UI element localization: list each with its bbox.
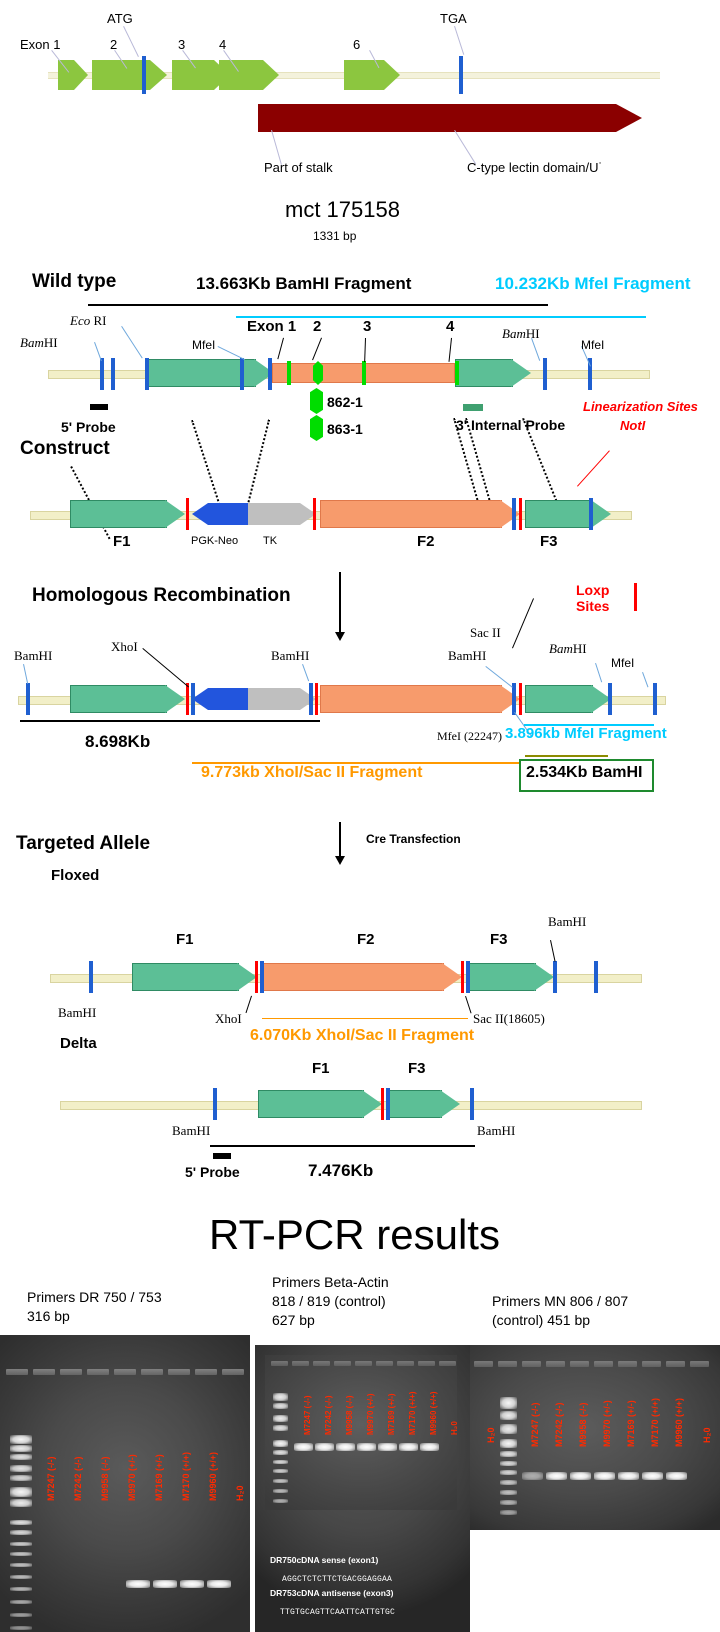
leader-bamhi-wt-right xyxy=(531,338,540,361)
loxp-site-construct-1 xyxy=(186,498,189,530)
hr-label-mfei: MfeI xyxy=(611,657,634,669)
leader-atg xyxy=(123,26,139,57)
hr-label-bamhi-left: BamHI xyxy=(14,649,52,662)
label-exon1-wt: Exon 1 xyxy=(247,319,296,334)
cre-arrow-head xyxy=(335,856,345,865)
gel-lane-label: M7247 (-/-) xyxy=(530,1402,540,1447)
construct-f3-arrow xyxy=(525,500,611,528)
exon-2-mark xyxy=(313,361,323,385)
exon-3-mark xyxy=(362,361,366,385)
exon-6-arrow xyxy=(344,60,400,90)
gel-lane-label: M9958 (-/-) xyxy=(345,1395,354,1435)
site-bamhi-construct xyxy=(512,498,516,530)
construct-f2-arrow xyxy=(320,500,520,528)
hr-site-bamhi-right-blue xyxy=(512,683,516,715)
dotted-link-4 xyxy=(453,418,480,507)
gel-lane-label: M9970 (+/-) xyxy=(127,1454,137,1501)
gel-image-right: H₂0M7247 (-/-)M7242 (-/-)M9958 (-/-)M997… xyxy=(470,1345,720,1530)
gel-lane-label: M9960 (+/+) xyxy=(674,1398,684,1447)
delta-site-mid-blue xyxy=(386,1088,390,1120)
delta-panel: Delta F1 F3 BamHI BamHI 5' Probe 7.476Kb xyxy=(0,985,720,1150)
tga-site-marker xyxy=(459,56,463,94)
label-bamhi-wt-right-italic: Bam xyxy=(502,326,526,341)
leader-mfei-wt-left xyxy=(218,346,245,360)
hr-label-9773: 9.773kb XhoI/Sac II Fragment xyxy=(201,765,422,781)
label-linearization-sites: Linearization Sites xyxy=(583,400,698,413)
site-exon1-boundary xyxy=(268,358,272,390)
leader-ecori-wt xyxy=(121,326,143,358)
hr-site-bamhi-left xyxy=(26,683,30,715)
mfei-fragment-label: 10.232Kb MfeI Fragment xyxy=(495,275,691,292)
hr-pgk-neo-arrow xyxy=(192,688,250,710)
noti-leader-line xyxy=(577,450,610,486)
bamhi-fragment-rule xyxy=(88,304,548,306)
targeted-heading: Targeted Allele xyxy=(16,834,150,853)
label-mfei-wt-left: MfeI xyxy=(192,339,215,351)
delta-label-bamhi-right: BamHI xyxy=(477,1124,515,1137)
site-bamhi-wt-2 xyxy=(111,358,115,390)
hr-label-mfei-pos: MfeI (22247) xyxy=(437,730,502,742)
site-noti-construct xyxy=(589,498,593,530)
site-bamhi-wt-right xyxy=(543,358,547,390)
hr-label-xhoi: XhoI xyxy=(111,640,138,653)
gel-lane-label: M7170 (+/+) xyxy=(650,1398,660,1447)
label-bamhi-wt: BamHI xyxy=(20,336,58,349)
gel-lane-label: M7169 (+/-) xyxy=(626,1400,636,1447)
rtpcr-caption-mid-1: Primers Beta-Actin xyxy=(272,1275,389,1289)
primer-sequence-name-0: DR750cDNA sense (exon1) xyxy=(270,1555,378,1565)
oligo-862-1-label: 862-1 xyxy=(327,395,363,409)
exon4-label: 4 xyxy=(219,38,226,51)
hr-label-bamhi-italic: BamHI xyxy=(549,642,587,655)
gel-lane-label: M9958 (-/-) xyxy=(578,1402,588,1447)
gel-lane-label: M7169 (+/-) xyxy=(154,1454,164,1501)
primer-sequence-row-1: DR753cDNA antisense (exon3) TTGTGCAGTTCA… xyxy=(270,1583,470,1619)
rtpcr-caption-left-2: 316 bp xyxy=(27,1309,70,1323)
atg-site-marker xyxy=(142,56,146,94)
gel-lane-label: M9960 (+/+) xyxy=(208,1452,218,1501)
gene-map-length: 1331 bp xyxy=(313,230,356,242)
exon-4-arrow xyxy=(219,60,279,90)
delta-probe-label: 5' Probe xyxy=(185,1165,240,1179)
delta-five-prime-probe-bar xyxy=(213,1153,231,1159)
hr-label-sacii: Sac II xyxy=(470,626,501,639)
label-exon2-wt: 2 xyxy=(313,319,321,334)
label-mfei-wt-right: MfeI xyxy=(581,339,604,351)
lectin-domain-arrow xyxy=(272,104,642,132)
delta-f1-arrow xyxy=(258,1090,382,1118)
rtpcr-caption-right-2: (control) 451 bp xyxy=(492,1313,590,1327)
label-bamhi-wt-right: BamHI xyxy=(502,327,540,340)
exon3-label: 3 xyxy=(178,38,185,51)
hr-leader-bamhi-mid xyxy=(302,664,309,681)
label-ecori-wt-italic: Eco xyxy=(70,313,90,328)
gel-lane-label: M7169 (+/-) xyxy=(387,1393,396,1435)
recombination-arrow xyxy=(339,572,341,634)
loxp-site-construct-2 xyxy=(313,498,316,530)
loxp-site-construct-3 xyxy=(519,498,522,530)
rtpcr-title: RT-PCR results xyxy=(209,1214,500,1256)
construct-f3-label: F3 xyxy=(540,534,558,549)
mfei-fragment-rule xyxy=(236,316,646,318)
floxed-f2-label: F2 xyxy=(357,932,375,947)
hr-leader-sacii xyxy=(512,598,534,648)
floxed-leader-bamhi-right xyxy=(550,940,556,962)
construct-f2-label: F2 xyxy=(417,534,435,549)
gel-lane-label: H₂0 xyxy=(486,1427,496,1443)
recombination-arrow-head xyxy=(335,632,345,641)
delta-label-bamhi-left: BamHI xyxy=(172,1124,210,1137)
hr-f1-arrow xyxy=(70,685,185,713)
gel-lane-label: H₂0 xyxy=(702,1427,712,1443)
gene-map-panel: Exon 1 2 ATG 3 4 6 TGA Part of stalk C-t… xyxy=(0,0,720,258)
hr-rule-2534 xyxy=(525,755,608,757)
construct-pgk-neo-arrow xyxy=(192,503,250,525)
hr-loxp-3 xyxy=(519,683,522,715)
hr-site-bamhi-mid-blue xyxy=(309,683,313,715)
delta-heading: Delta xyxy=(60,1036,97,1051)
hr-f3-arrow xyxy=(525,685,611,713)
stalk-label: Part of stalk xyxy=(264,161,333,174)
exon-1-mark xyxy=(287,361,291,385)
oligo-862-1-marker xyxy=(310,388,323,414)
targeted-allele-panel: Targeted Allele Cre Transfection Floxed … xyxy=(0,790,720,990)
exon1-label: Exon 1 xyxy=(20,38,60,51)
primer-sequence-name-1: DR753cDNA antisense (exon3) xyxy=(270,1588,393,1598)
construct-f1-arrow xyxy=(70,500,185,528)
delta-f3-arrow xyxy=(388,1090,460,1118)
leader-exon1-wt xyxy=(277,338,284,360)
delta-f3-label: F3 xyxy=(408,1061,426,1076)
delta-site-bamhi-left xyxy=(213,1088,217,1120)
label-bamhi-wt-italic: Bam xyxy=(20,335,44,350)
rtpcr-caption-mid-2: 818 / 819 (control) xyxy=(272,1294,386,1308)
cre-transfection-label: Cre Transfection xyxy=(366,833,461,845)
delta-loxp xyxy=(381,1088,384,1120)
gel-lane-label: M7170 (+/+) xyxy=(408,1391,417,1435)
gel-lane-label: M7247 (-/-) xyxy=(46,1456,56,1501)
hr-leader-mfei-far xyxy=(642,672,648,687)
rtpcr-caption-mid-3: 627 bp xyxy=(272,1313,315,1327)
floxed-f3-label: F3 xyxy=(490,932,508,947)
construct-tk-arrow xyxy=(248,503,316,525)
label-bamhi-wt-roman: HI xyxy=(44,335,58,350)
floxed-f1-label: F1 xyxy=(176,932,194,947)
dotted-link-2 xyxy=(191,420,224,516)
delta-fragment-rule xyxy=(210,1145,475,1147)
label-exon4-wt: 4 xyxy=(446,319,454,334)
hr-f2-arrow xyxy=(320,685,520,713)
delta-fragment-label: 7.476Kb xyxy=(308,1162,373,1179)
leader-exon3-wt xyxy=(364,338,366,362)
construct-pgk-neo-label: PGK-Neo xyxy=(191,536,238,547)
hr-label-3896: 3.896kb MfeI Fragment xyxy=(505,726,667,741)
construct-heading: Construct xyxy=(20,439,110,458)
hr-leader-bamhi-far xyxy=(595,663,602,682)
gel-lane-label: H₂0 xyxy=(450,1421,459,1435)
lectin-domain-label: C-type lectin domain/U˙ xyxy=(467,161,603,174)
loxp-legend-line2: Sites xyxy=(576,599,609,613)
five-prime-probe-bar xyxy=(90,404,108,410)
gel-lane-label: M9970 (+/-) xyxy=(366,1393,375,1435)
gel-lane-label: M7170 (+/+) xyxy=(181,1452,191,1501)
homologous-heading: Homologous Recombination xyxy=(32,586,291,605)
hr-loxp-1 xyxy=(186,683,189,715)
wild-type-homology-arm-right xyxy=(455,359,531,387)
label-ecori-wt: Eco RI xyxy=(70,314,106,327)
primer-sequence-row-0: DR750cDNA sense (exon1) AGGCTCTCTTCTGACG… xyxy=(270,1550,470,1586)
primer-sequence-value-1: TTGTGCAGTTCAATTCATTGTGC xyxy=(280,1608,395,1617)
hr-label-bamhi-right: BamHI xyxy=(448,649,486,662)
hr-label-8698: 8.698Kb xyxy=(85,733,150,750)
atg-label: ATG xyxy=(107,12,133,25)
gel-lane-label: M7242 (-/-) xyxy=(324,1395,333,1435)
site-ecori-wt xyxy=(145,358,149,390)
gel-lane-label: M7242 (-/-) xyxy=(554,1402,564,1447)
floxed-label-bamhi-right: BamHI xyxy=(548,915,586,928)
gel-lane-label: M9970 (+/-) xyxy=(602,1400,612,1447)
rtpcr-caption-left-1: Primers DR 750 / 753 xyxy=(27,1290,162,1304)
leader-bamhi-wt xyxy=(94,342,102,361)
hr-label-bamhi-roman-part: HI xyxy=(573,641,587,656)
hr-leader-xhoi xyxy=(142,648,189,687)
cre-arrow-shaft xyxy=(339,822,341,860)
rtpcr-panel: RT-PCR results Primers DR 750 / 753 316 … xyxy=(0,1190,720,1632)
hr-label-bamhi-italic-part: Bam xyxy=(549,641,573,656)
hr-loxp-2 xyxy=(315,683,318,715)
three-internal-probe-bar xyxy=(463,404,483,411)
gel-lane-label: M7242 (-/-) xyxy=(73,1456,83,1501)
wild-type-homology-arm-left xyxy=(146,359,274,387)
label-exon3-wt: 3 xyxy=(363,319,371,334)
label-bamhi-wt-right-roman: HI xyxy=(526,326,540,341)
gel-lane-label: M9960 (+/+) xyxy=(429,1391,438,1435)
tga-label: TGA xyxy=(440,12,467,25)
construct-panel: Construct F1 PGK-Neo TK F2 F3 xyxy=(0,430,720,550)
exon-4-mark xyxy=(455,361,459,385)
site-bamhi-wt-1 xyxy=(100,358,104,390)
wild-type-heading: Wild type xyxy=(32,272,116,291)
gel-lane-label: M7247 (-/-) xyxy=(303,1395,312,1435)
bamhi-fragment-label: 13.663Kb BamHI Fragment xyxy=(196,275,411,292)
label-ecori-wt-roman: RI xyxy=(90,313,106,328)
site-mfei-wt-left xyxy=(240,358,244,390)
gene-map-title: mct 175158 xyxy=(285,199,400,221)
exon-2-arrow xyxy=(92,60,167,90)
delta-f1-label: F1 xyxy=(312,1061,330,1076)
hr-rule-8698 xyxy=(20,720,320,722)
homologous-recombination-panel: Homologous Recombination Loxp Sites xyxy=(0,550,720,790)
hr-site-bamhi-far xyxy=(608,683,612,715)
loxp-legend-swatch xyxy=(634,583,637,611)
hr-site-xhoi-blue xyxy=(191,683,195,715)
leader-tga xyxy=(454,26,464,55)
rtpcr-caption-right-1: Primers MN 806 / 807 xyxy=(492,1294,628,1308)
dotted-link-5 xyxy=(465,418,492,507)
floxed-heading: Floxed xyxy=(51,868,99,883)
exon2-label: 2 xyxy=(110,38,117,51)
construct-tk-label: TK xyxy=(263,536,277,547)
hr-tk-arrow xyxy=(248,688,316,710)
hr-label-bamhi-mid: BamHI xyxy=(271,649,309,662)
hr-label-2534: 2.534Kb BamHI xyxy=(526,765,643,781)
gel-image-left: M7247 (-/-)M7242 (-/-)M9958 (-/-)M9970 (… xyxy=(0,1335,250,1632)
gel-image-middle: M7247 (-/-)M7242 (-/-)M9958 (-/-)M9970 (… xyxy=(255,1345,470,1632)
wild-type-panel: Wild type 13.663Kb BamHI Fragment 10.232… xyxy=(0,258,720,438)
hr-site-mfei-far xyxy=(653,683,657,715)
gel-lane-label: M9958 (-/-) xyxy=(100,1456,110,1501)
leader-exon2-wt xyxy=(312,338,322,361)
dotted-link-6 xyxy=(522,418,558,504)
construct-f1-label: F1 xyxy=(113,534,131,549)
exon6-label: 6 xyxy=(353,38,360,51)
gel-lane-label: H₂0 xyxy=(235,1485,245,1501)
hr-leader-bamhi-left xyxy=(23,664,28,684)
delta-site-bamhi-right xyxy=(470,1088,474,1120)
loxp-legend-line1: Loxp xyxy=(576,583,609,597)
leader-exon4-wt xyxy=(448,338,452,362)
